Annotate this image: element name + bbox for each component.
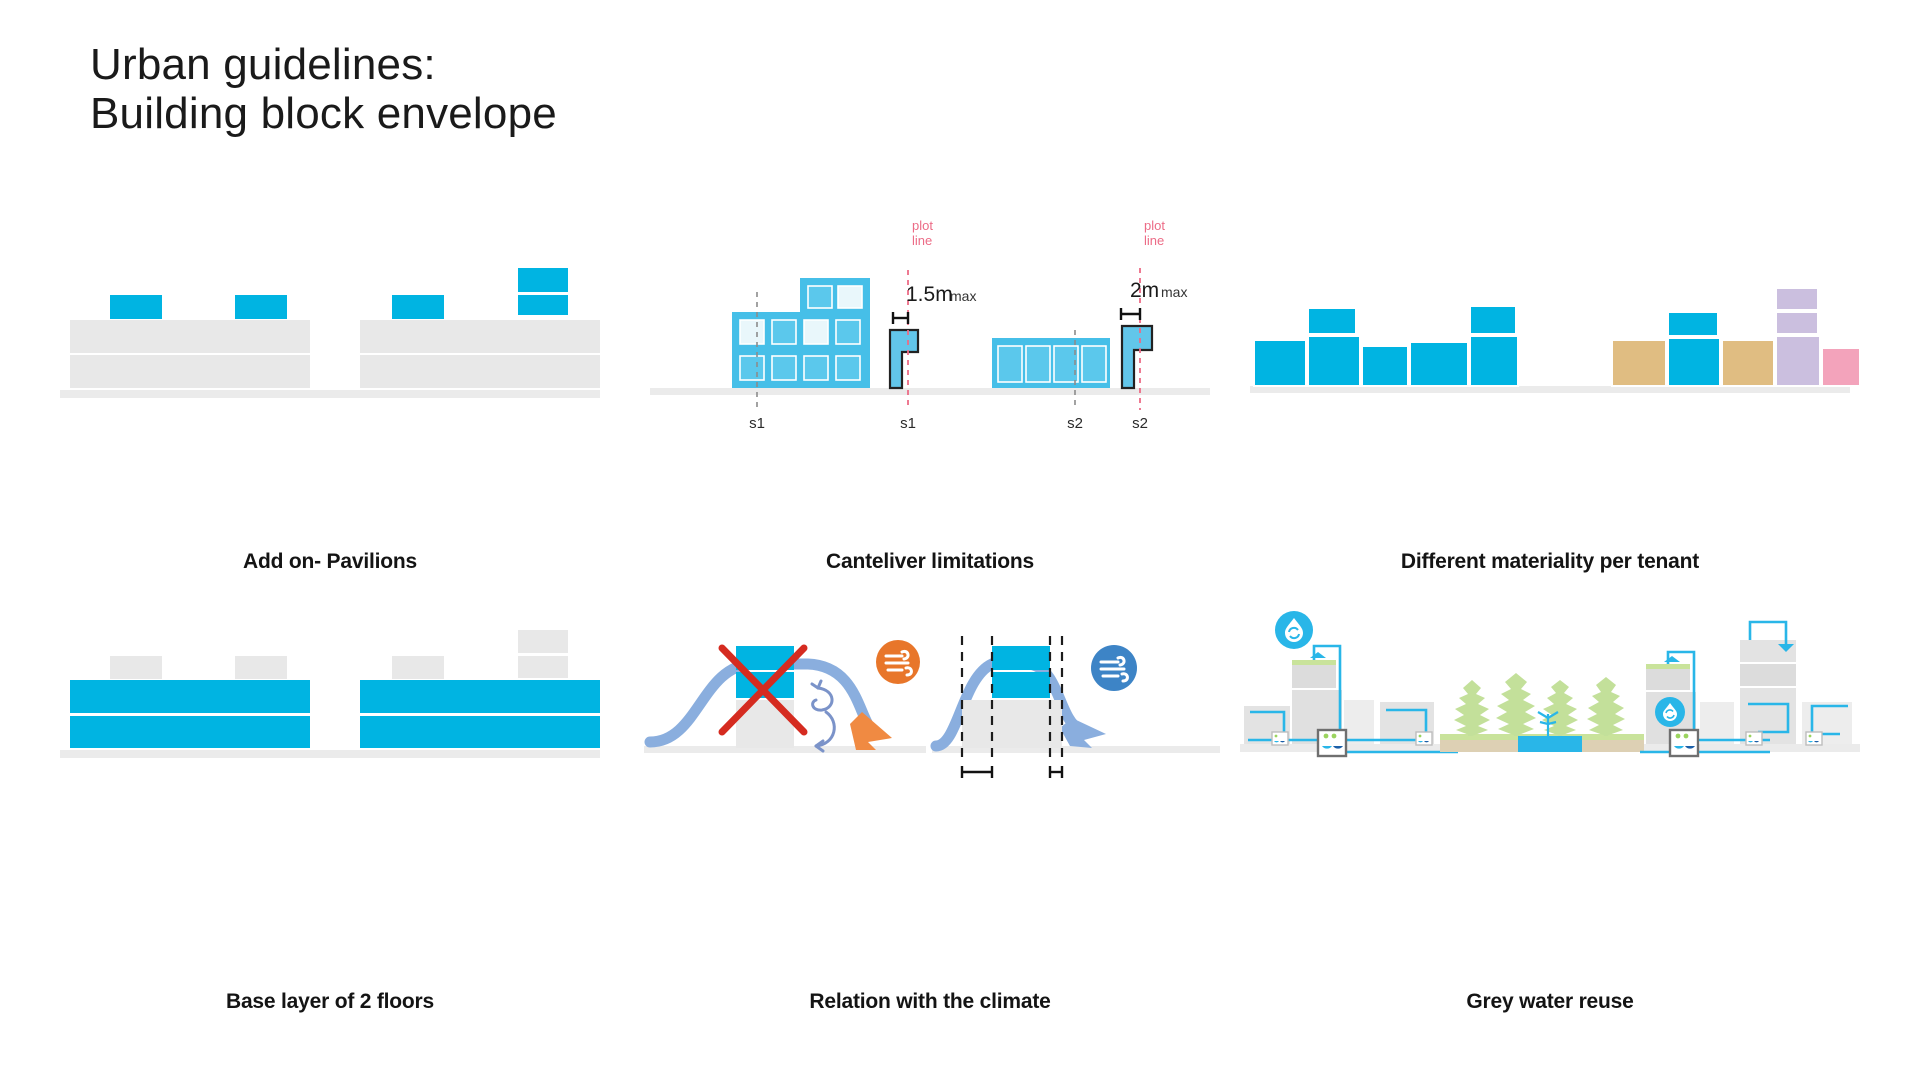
turbulence-icon [812,681,834,751]
base-floor-1-right [360,355,600,388]
tenant-block-2-addon [1308,308,1356,334]
building-r1-upper [1646,668,1690,690]
pipe-arrow-left [1310,652,1326,658]
plot-line-label-left-line1: plot [912,218,933,233]
elevation-block-s1 [732,278,870,388]
water-meter-right-2 [1806,732,1822,745]
base-floor-2-right [360,320,600,353]
tree-group [1454,673,1625,736]
pavilion-right-2-lower [518,295,568,315]
panel-canteliver-limitations: s1 plot line 1.5m max s1 s2 [640,200,1220,450]
dimension-1-5m-max: 1.5m max [893,283,976,324]
caption-relation-with-climate: Relation with the climate [640,990,1220,1014]
caption-grey-water-reuse: Grey water reuse [1240,990,1860,1014]
section-label-s2-section: s2 [1132,415,1148,432]
diagram-add-on-pavilions [40,200,620,450]
pavilion-right-1 [392,295,444,319]
section-profile-s2 [1122,326,1152,388]
water-treatment-box-right [1670,730,1698,756]
tenant-block-10-pink [1822,348,1860,386]
base-floor-2-left [70,320,310,353]
diagram-canteliver-limitations: s1 plot line 1.5m max s1 s2 [640,200,1220,450]
pavilion-left-1 [110,656,162,679]
building-l3 [1344,700,1374,744]
tenant-block-2 [1308,336,1360,386]
water-feature [1518,736,1582,752]
base-floor-1-right [360,716,600,748]
tenant-group-right [1612,288,1860,386]
pavilion-right-2-upper [518,630,568,653]
tenant-block-6-tan [1612,340,1666,386]
pavilion-left-1 [110,295,162,319]
diagram-relation-with-climate [640,560,1220,810]
pavilion-right-2-upper [518,268,568,292]
tenant-block-5 [1470,336,1518,386]
dimension-value-right: 2m [1130,279,1159,302]
water-recycle-icon-left [1275,611,1313,649]
base-volume-right [962,700,1062,748]
ground-line [60,750,600,758]
setback-dimension-left [962,766,992,778]
pavilion-right-2-lower [518,656,568,678]
dimension-qualifier-right: max [1161,284,1187,300]
diagram-base-layer [40,560,620,810]
caption-base-layer: Base layer of 2 floors [40,990,620,1014]
page-title: Urban guidelines: Building block envelop… [90,40,557,139]
plot-line-label-right-line1: plot [1144,218,1165,233]
water-meter-left [1272,732,1288,745]
wind-icon-orange [876,640,920,684]
panel-add-on-pavilions [40,200,620,450]
tenant-block-7-addon [1668,312,1718,336]
green-roof-1 [1292,660,1336,665]
water-meter-left-2 [1416,732,1432,745]
water-recycle-icon-right [1655,697,1685,727]
airflow-arrow-right [1060,718,1106,748]
tenant-block-7-cyan [1668,338,1720,386]
diagram-grey-water-reuse [1240,560,1860,810]
pavilion-left-2 [235,295,287,319]
tenant-block-3 [1362,346,1408,386]
section-profile-s1 [890,330,918,388]
tenant-block-9-addon-1 [1776,312,1818,334]
dimension-qualifier-left: max [950,288,976,304]
tenant-group-left [1254,306,1518,386]
tenant-block-1 [1254,340,1306,386]
airflow-arrow-left [850,712,892,750]
dimension-2m-max: 2m max [1121,279,1187,320]
section-label-s1-section: s1 [900,415,916,432]
water-treatment-box-left [1318,730,1346,756]
panel-relation-with-climate [640,560,1220,810]
dimension-value-left: 1.5m [906,283,953,306]
pavilion-right-1 [392,656,444,679]
panel-grey-water-reuse [1240,560,1860,810]
building-r2 [1700,702,1734,744]
building-r3-mid [1740,664,1796,686]
ground-line [1250,386,1850,393]
tenant-block-4 [1410,342,1468,386]
building-l2-upper [1292,664,1336,688]
water-meter-right-1 [1746,732,1762,745]
tenant-block-9-addon-2 [1776,288,1818,310]
upper-volume-right-lower [992,672,1050,698]
wind-icon-blue [1091,645,1137,691]
plot-line-label-left-line2: line [912,233,932,248]
base-floor-1-left [70,716,310,748]
panel-different-materiality [1240,200,1860,450]
setback-dimension-right [1050,766,1062,778]
diagram-different-materiality [1240,200,1860,450]
tenant-block-5-addon [1470,306,1516,334]
building-r3-upper [1740,640,1796,662]
base-floor-2-right [360,680,600,713]
pavilion-left-2 [235,656,287,679]
ground-line [60,390,600,398]
tenant-block-8-tan [1722,340,1774,386]
pipe-arrow-right [1664,656,1680,662]
base-floor-2-left [70,680,310,713]
green-roof-2 [1646,664,1690,669]
section-label-s1-elevation: s1 [749,415,765,432]
panel-base-layer [40,560,620,810]
elevation-block-s2 [992,338,1110,388]
upper-volume-right-upper [992,646,1050,670]
plot-line-label-right-line2: line [1144,233,1164,248]
base-floor-1-left [70,355,310,388]
tenant-block-9-lavender [1776,336,1820,386]
section-label-s2-elevation: s2 [1067,415,1083,432]
